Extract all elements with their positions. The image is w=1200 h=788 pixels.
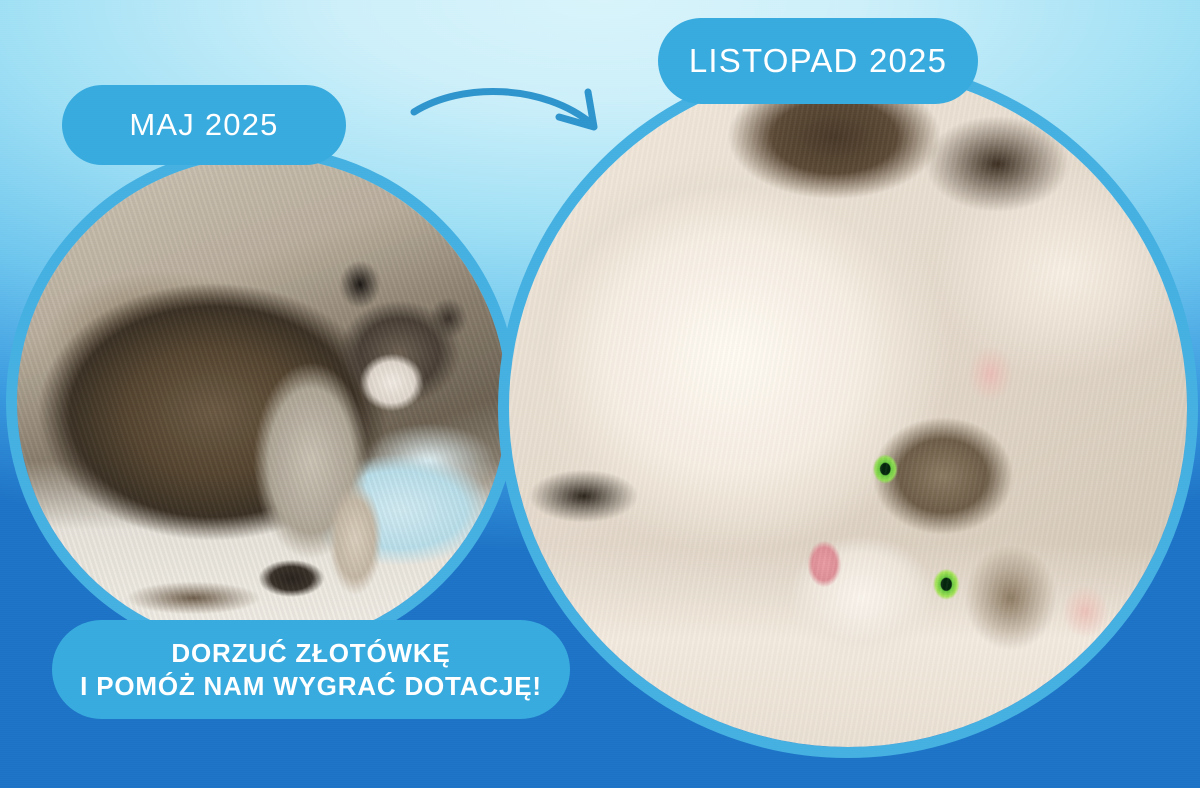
cta-banner[interactable]: DORZUĆ ZŁOTÓWKĘ I POMÓŻ NAM WYGRAĆ DOTAC… [52,620,570,719]
after-photo-texture [509,69,1187,747]
badge-after-date: LISTOPAD 2025 [658,18,978,104]
badge-before-date: MAJ 2025 [62,85,346,165]
before-photo-texture [17,157,507,647]
before-photo-circle [17,157,507,647]
curved-arrow-right-icon [404,78,618,162]
after-photo-circle [509,69,1187,747]
poster-canvas: MAJ 2025 LISTOPAD 2025 DORZUĆ ZŁOTÓWKĘ I… [0,0,1200,788]
